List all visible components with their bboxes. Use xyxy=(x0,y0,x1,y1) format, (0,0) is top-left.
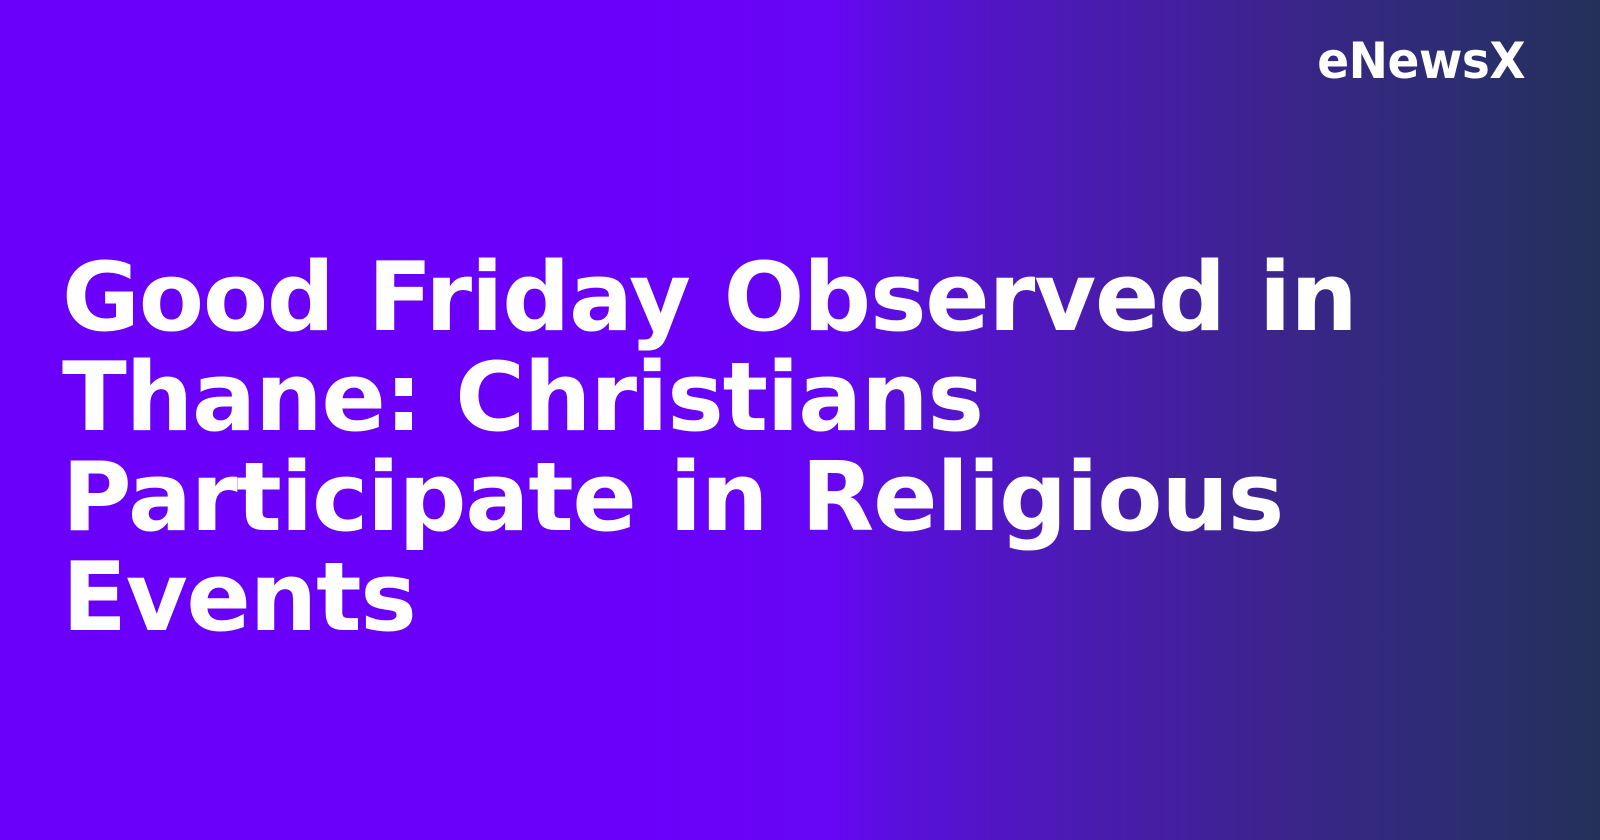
brand-logo[interactable]: eNewsX xyxy=(1304,36,1525,86)
headline-block: Good Friday Observed in Thane: Christian… xyxy=(62,248,1462,648)
article-share-card: eNewsX Good Friday Observed in Thane: Ch… xyxy=(0,0,1600,840)
article-headline: Good Friday Observed in Thane: Christian… xyxy=(62,248,1462,648)
brand-wordmark: eNewsX xyxy=(1317,36,1525,86)
